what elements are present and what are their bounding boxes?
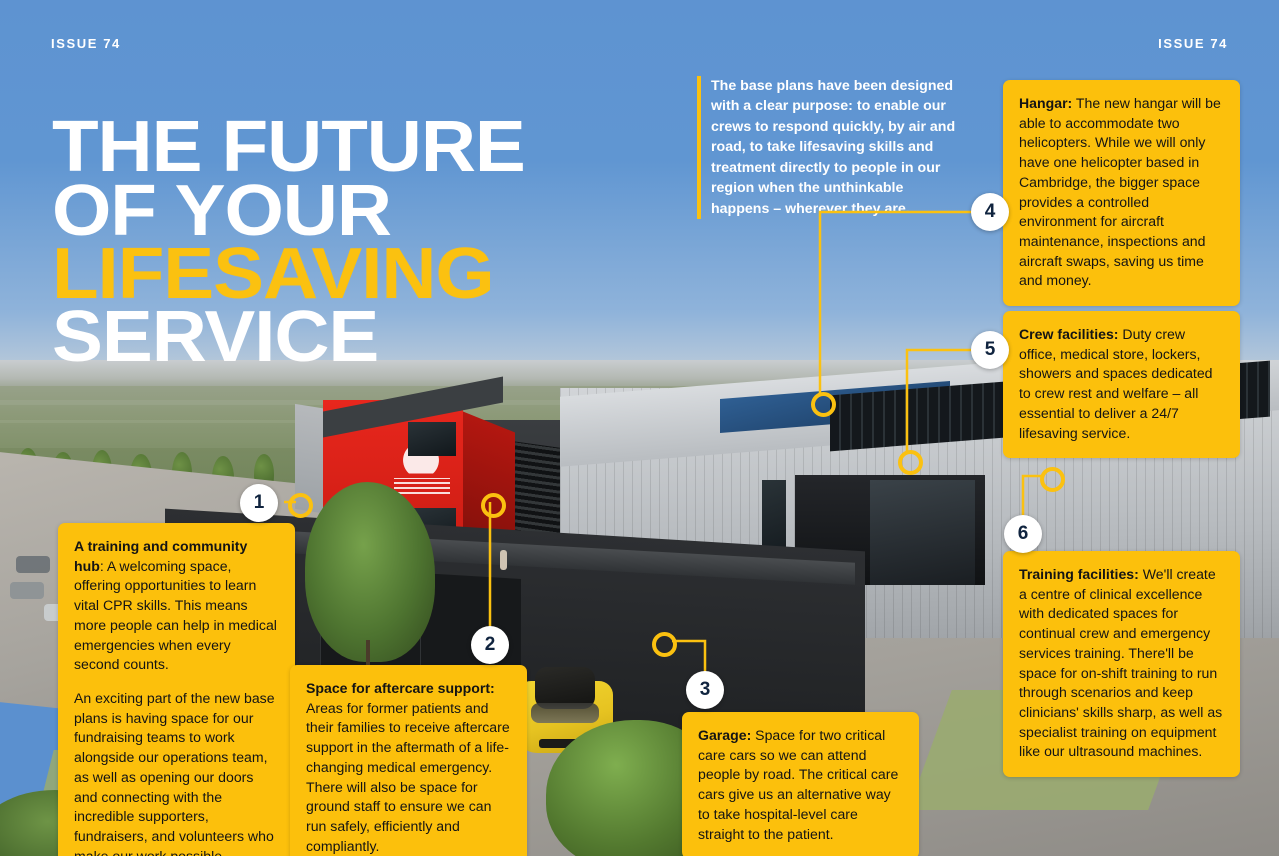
issue-number-left: ISSUE 74 bbox=[51, 36, 121, 51]
callout-title: Hangar: bbox=[1019, 95, 1072, 111]
parked-car bbox=[16, 556, 50, 573]
callout-body: The new hangar will be able to accommoda… bbox=[1019, 95, 1221, 288]
issue-number-right: ISSUE 74 bbox=[1158, 36, 1228, 51]
anchor-ring-2 bbox=[481, 493, 506, 518]
callout-box-garage: Garage: Space for two critical care cars… bbox=[682, 712, 919, 856]
marker-5[interactable]: 5 bbox=[971, 331, 1009, 369]
page-root: ISSUE 74 ISSUE 74 THE FUTURE OF YOUR LIF… bbox=[0, 0, 1279, 856]
entrance-glazing bbox=[870, 480, 975, 585]
callout-body: Duty crew office, medical store, lockers… bbox=[1019, 326, 1213, 441]
callout-paragraph: A training and community hub: A welcomin… bbox=[74, 537, 279, 675]
callout-title: Space for aftercare support: bbox=[306, 680, 495, 696]
callout-body: We'll create a centre of clinical excell… bbox=[1019, 566, 1222, 759]
anchor-ring-6 bbox=[1040, 467, 1065, 492]
anchor-ring-3 bbox=[652, 632, 677, 657]
logo-wordmark bbox=[394, 478, 450, 494]
callout-title: Training facilities: bbox=[1019, 566, 1139, 582]
foreground-tree bbox=[305, 482, 435, 662]
anchor-ring-1 bbox=[288, 493, 313, 518]
callout-box-aftercare-support: Space for aftercare support: Areas for f… bbox=[290, 665, 527, 856]
marker-6[interactable]: 6 bbox=[1004, 515, 1042, 553]
callout-box-training-community-hub: A training and community hub: A welcomin… bbox=[58, 523, 295, 856]
marker-1[interactable]: 1 bbox=[240, 484, 278, 522]
callout-paragraph: Training facilities: We'll create a cent… bbox=[1019, 565, 1224, 762]
anchor-ring-4 bbox=[811, 392, 836, 417]
callout-box-training-facilities: Training facilities: We'll create a cent… bbox=[1003, 551, 1240, 777]
callout-box-hangar: Hangar: The new hangar will be able to a… bbox=[1003, 80, 1240, 306]
page-title: THE FUTURE OF YOUR LIFESAVING SERVICE bbox=[52, 116, 709, 369]
marker-4[interactable]: 4 bbox=[971, 193, 1009, 231]
callout-paragraph: Space for aftercare support: Areas for f… bbox=[306, 679, 511, 856]
marker-3[interactable]: 3 bbox=[686, 671, 724, 709]
callout-body: Areas for former patients and their fami… bbox=[306, 700, 510, 854]
callout-body: A welcoming space, offering opportunitie… bbox=[74, 558, 277, 673]
marker-2[interactable]: 2 bbox=[471, 626, 509, 664]
callout-title: Crew facilities: bbox=[1019, 326, 1118, 342]
callout-paragraph: Hangar: The new hangar will be able to a… bbox=[1019, 94, 1224, 291]
person-figure bbox=[500, 550, 507, 570]
callout-body: Space for two critical care cars so we c… bbox=[698, 727, 898, 842]
intro-paragraph: The base plans have been designed with a… bbox=[697, 76, 961, 219]
headline-line-4: SERVICE bbox=[52, 306, 709, 369]
anchor-ring-5 bbox=[898, 450, 923, 475]
callout-paragraph: Garage: Space for two critical care cars… bbox=[698, 726, 903, 844]
callout-title: Garage: bbox=[698, 727, 751, 743]
callout-paragraph: Crew facilities: Duty crew office, medic… bbox=[1019, 325, 1224, 443]
window bbox=[408, 422, 456, 456]
callout-paragraph: An exciting part of the new base plans i… bbox=[74, 689, 279, 856]
parked-car bbox=[10, 582, 44, 599]
callout-box-crew-facilities: Crew facilities: Duty crew office, medic… bbox=[1003, 311, 1240, 458]
